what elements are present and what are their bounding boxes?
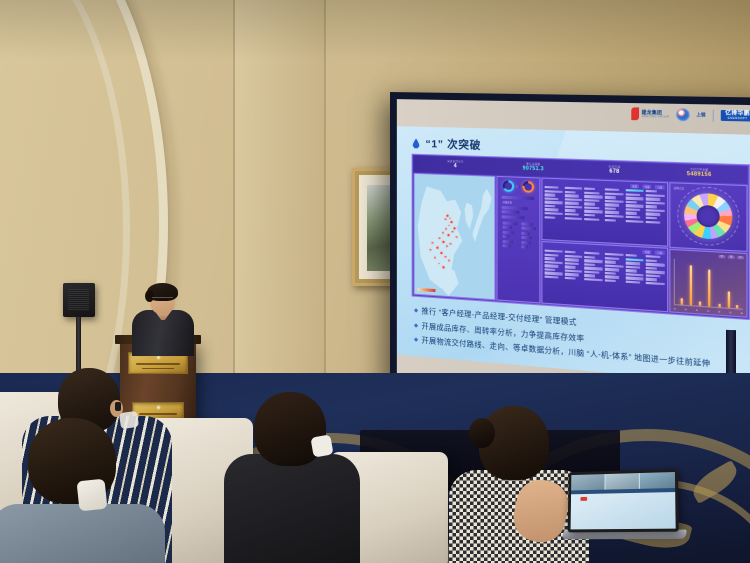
table-grid bbox=[545, 250, 665, 286]
table-cell bbox=[605, 257, 620, 260]
audience-hair-bun bbox=[469, 418, 495, 448]
table-cell bbox=[564, 251, 575, 254]
side-bar bbox=[521, 236, 531, 240]
kpi-value: 4 bbox=[418, 163, 494, 171]
dashboard-center-column: 全部 待发 已发 bbox=[541, 178, 668, 313]
table-cell bbox=[625, 208, 640, 211]
video-main-stage bbox=[571, 492, 676, 529]
side-bar bbox=[501, 215, 524, 219]
dashboard-right-column: 品种占比 日 周 月 bbox=[669, 182, 748, 318]
map-dot bbox=[456, 236, 458, 238]
table-cell bbox=[545, 205, 556, 208]
map-dot bbox=[446, 245, 448, 247]
face-mask bbox=[310, 434, 333, 457]
earbud-icon bbox=[115, 402, 121, 411]
side-bar bbox=[521, 222, 533, 226]
table-cell bbox=[584, 206, 598, 209]
table-cell bbox=[584, 259, 602, 263]
laptop-lid bbox=[568, 469, 679, 532]
jianlong-logo-en: JIANLONG GROUP bbox=[641, 115, 669, 119]
table-cell bbox=[625, 262, 640, 265]
table-cell bbox=[584, 278, 602, 282]
table-cell bbox=[564, 205, 582, 208]
recording-indicator-icon bbox=[580, 497, 587, 501]
esensoft-logo: 亿搀华鹏 ESENSOFT bbox=[721, 110, 750, 122]
table-cell bbox=[605, 215, 623, 218]
map-dot bbox=[443, 241, 445, 243]
table-cell bbox=[564, 190, 575, 193]
presenter-glasses-icon bbox=[152, 297, 173, 303]
shipment-table-bottom: 全部 已发 bbox=[541, 241, 668, 312]
table-cell bbox=[545, 186, 559, 189]
table-cell bbox=[564, 277, 575, 280]
kpi-item: 当日发货车次 4 bbox=[418, 160, 494, 171]
map-dot bbox=[432, 242, 434, 244]
table-cell bbox=[584, 252, 598, 255]
table-cell bbox=[545, 201, 563, 204]
axis-tick: 25 bbox=[729, 312, 731, 314]
table-cell bbox=[625, 212, 636, 215]
kpi-item: 在途车辆 678 bbox=[573, 165, 656, 176]
spark-bar bbox=[709, 270, 711, 307]
plaque-line bbox=[136, 363, 180, 365]
shipment-table-top: 全部 待发 已发 bbox=[541, 178, 668, 247]
audience-shoulders bbox=[0, 504, 165, 563]
table-cell bbox=[584, 214, 595, 217]
side-bar bbox=[521, 240, 530, 244]
order-status-side-panel: 运输状态 bbox=[496, 176, 540, 304]
table-cell bbox=[625, 189, 643, 192]
table-cell bbox=[564, 202, 578, 205]
video-tile bbox=[605, 473, 639, 490]
table-cell bbox=[646, 267, 657, 270]
axis-tick: 05 bbox=[685, 309, 687, 311]
table-cell bbox=[545, 250, 563, 253]
spark-plot-area bbox=[674, 259, 743, 310]
table-cell bbox=[625, 204, 643, 207]
spark-bar bbox=[736, 305, 738, 308]
map-dot bbox=[437, 247, 439, 249]
spark-bar bbox=[699, 301, 701, 306]
water-drop-icon bbox=[413, 138, 420, 148]
table-cell bbox=[605, 276, 620, 279]
logo-row: 建龙集团 JIANLONG GROUP 上钢 亿搀华鹏 ESENSOFT bbox=[631, 107, 750, 122]
side-bar bbox=[516, 185, 520, 188]
ceiling-shadow bbox=[0, 0, 750, 60]
audience-center-dark-shirt bbox=[228, 392, 354, 563]
table-cell bbox=[545, 264, 559, 267]
table-cell bbox=[564, 194, 578, 197]
map-dot bbox=[447, 215, 449, 217]
audience-front-row bbox=[0, 418, 155, 563]
spark-bar bbox=[728, 291, 730, 308]
table-cell bbox=[564, 273, 578, 276]
table-cell bbox=[605, 211, 620, 214]
table-cell bbox=[564, 217, 582, 220]
table-cell bbox=[545, 208, 559, 211]
spark-tab[interactable]: 日 bbox=[718, 255, 725, 259]
table-cell bbox=[584, 188, 595, 191]
jianlong-group-logo: 建龙集团 JIANLONG GROUP bbox=[631, 107, 669, 121]
table-cell bbox=[545, 197, 559, 200]
table-cell bbox=[584, 218, 598, 221]
map-dot bbox=[440, 252, 442, 254]
dashboard-main: 运输状态 bbox=[414, 173, 748, 318]
table-cell bbox=[646, 263, 665, 267]
table-cell bbox=[564, 187, 582, 190]
table-cell bbox=[605, 219, 616, 222]
table-cell bbox=[584, 271, 598, 274]
table-cell bbox=[605, 279, 616, 282]
conference-room-photo: 建龙集团 JIANLONG GROUP 上钢 亿搀华鹏 ESENSOFT bbox=[0, 0, 750, 563]
table-cell bbox=[605, 253, 623, 257]
table-cell bbox=[584, 274, 595, 277]
side-bar bbox=[503, 230, 515, 234]
table-cell bbox=[646, 201, 665, 204]
table-cell bbox=[646, 274, 661, 277]
table-cell bbox=[605, 268, 620, 271]
spark-bar bbox=[680, 298, 682, 305]
table-tab[interactable]: 全部 bbox=[642, 250, 651, 255]
table-cell bbox=[625, 197, 643, 200]
table-cell bbox=[605, 272, 616, 275]
table-cell bbox=[564, 266, 575, 269]
table-cell bbox=[584, 210, 602, 213]
table-tab[interactable]: 全部 bbox=[630, 184, 639, 189]
table-cell bbox=[584, 263, 595, 266]
table-cell bbox=[646, 213, 661, 216]
table-cell bbox=[646, 259, 657, 262]
side-split bbox=[499, 219, 537, 250]
trend-spark-chart: 日 周 月 bbox=[669, 249, 748, 318]
wall-speaker bbox=[63, 283, 95, 317]
gauge-blue bbox=[503, 180, 514, 192]
axis-tick: 30 bbox=[741, 313, 743, 315]
table-cell bbox=[605, 200, 623, 203]
esensoft-logo-en: ESENSOFT bbox=[725, 117, 750, 121]
axis-tick: 10 bbox=[696, 310, 698, 312]
jianlong-mark-icon bbox=[631, 107, 639, 120]
map-dot bbox=[443, 267, 445, 269]
laptop-screen bbox=[571, 472, 676, 529]
video-tile bbox=[640, 472, 675, 489]
table-tab[interactable]: 待发 bbox=[642, 184, 651, 189]
table-cell bbox=[564, 258, 578, 261]
table-cell bbox=[605, 260, 616, 263]
table-cell bbox=[584, 199, 598, 202]
logo-divider bbox=[712, 109, 713, 121]
table-cell bbox=[625, 216, 640, 219]
table-cell bbox=[646, 190, 657, 193]
dashboard-screenshot: 当日发货车次 4 累计运输量 90751.3 在途车辆 678 bbox=[412, 154, 750, 320]
table-cell bbox=[646, 255, 661, 258]
table-cell bbox=[625, 201, 636, 204]
side-bar bbox=[503, 235, 510, 238]
map-dot bbox=[451, 221, 453, 223]
dashboard-left-column: 运输状态 bbox=[414, 173, 541, 304]
table-cell bbox=[584, 256, 595, 259]
partner-badge-icon bbox=[676, 108, 690, 121]
partner-badge-label: 上钢 bbox=[696, 112, 705, 119]
spark-tab[interactable]: 周 bbox=[728, 255, 735, 259]
side-bar bbox=[503, 239, 513, 243]
audience-shoulders bbox=[224, 454, 360, 563]
table-cell bbox=[605, 188, 620, 191]
gauge-orange bbox=[522, 181, 534, 193]
face-mask bbox=[77, 479, 108, 512]
slide-body: “1” 次突破 当日发货车次 4 累计运输量 90751.3 bbox=[397, 126, 750, 386]
table-cell bbox=[564, 262, 578, 265]
donut-chart-title: 品种占比 bbox=[674, 186, 684, 191]
table-cell bbox=[625, 269, 636, 272]
side-bar bbox=[501, 195, 533, 199]
slide-title: “1” 次突破 bbox=[413, 136, 481, 153]
table-grid bbox=[545, 186, 665, 224]
gauge-row bbox=[499, 179, 537, 195]
china-distribution-map bbox=[414, 173, 496, 300]
table-tab[interactable]: 已发 bbox=[655, 250, 664, 255]
screen-surface: 建龙集团 JIANLONG GROUP 上钢 亿搀华鹏 ESENSOFT bbox=[397, 99, 750, 413]
table-cell bbox=[625, 193, 640, 196]
axis-tick: 20 bbox=[718, 311, 720, 313]
bullet-marker-icon bbox=[414, 337, 418, 341]
table-cell bbox=[646, 205, 657, 208]
table-cell bbox=[545, 276, 559, 279]
table-cell bbox=[646, 282, 665, 286]
spark-axis-labels: 01 05 10 15 20 25 30 bbox=[674, 308, 743, 315]
spark-tab[interactable]: 月 bbox=[737, 256, 744, 260]
kpi-item: 今日订单金额 5489156 bbox=[656, 168, 743, 179]
table-cell bbox=[605, 192, 623, 195]
side-bar bbox=[521, 227, 535, 231]
table-cell bbox=[545, 193, 556, 196]
presentation-slide: 建龙集团 JIANLONG GROUP 上钢 亿搀华鹏 ESENSOFT bbox=[397, 99, 750, 413]
table-cell bbox=[625, 281, 640, 284]
table-cell bbox=[605, 207, 616, 210]
audience-woman-with-laptop bbox=[455, 406, 583, 563]
table-cell bbox=[564, 213, 578, 216]
side-bar bbox=[501, 205, 527, 209]
table-cell bbox=[564, 198, 582, 201]
table-cell bbox=[545, 212, 563, 215]
side-bar bbox=[521, 245, 528, 248]
table-cell bbox=[584, 203, 595, 206]
side-bar bbox=[503, 221, 517, 225]
table-cell bbox=[545, 268, 556, 271]
axis-tick: 01 bbox=[674, 308, 676, 310]
table-cell bbox=[646, 278, 657, 281]
bullet-marker-icon bbox=[414, 323, 418, 327]
table-cell bbox=[545, 257, 556, 260]
side-bar bbox=[521, 231, 529, 235]
spark-bar bbox=[718, 303, 720, 307]
map-dot bbox=[448, 234, 450, 236]
table-cell bbox=[646, 209, 665, 212]
side-bar bbox=[503, 244, 511, 248]
kpi-item: 累计运输量 90751.3 bbox=[494, 162, 574, 173]
axis-tick: 15 bbox=[707, 311, 709, 313]
bullet-marker-icon bbox=[414, 308, 418, 312]
table-cell bbox=[646, 198, 661, 201]
table-cell bbox=[545, 216, 556, 219]
table-cell bbox=[545, 253, 559, 256]
side-bar bbox=[503, 226, 512, 230]
table-cell bbox=[545, 190, 563, 193]
table-cell bbox=[646, 194, 665, 197]
spark-bar bbox=[690, 265, 692, 305]
table-cell bbox=[564, 209, 575, 212]
table-cell bbox=[605, 203, 620, 206]
video-tile bbox=[571, 474, 604, 490]
attendee-laptop[interactable] bbox=[567, 469, 685, 545]
video-gallery-row bbox=[571, 472, 675, 490]
table-cell bbox=[646, 221, 661, 224]
table-cell bbox=[584, 191, 598, 194]
table-cell bbox=[584, 195, 602, 198]
side-panel-label: 运输状态 bbox=[499, 200, 537, 206]
table-cell bbox=[625, 254, 636, 257]
map-dot bbox=[454, 227, 456, 229]
table-cell bbox=[625, 220, 643, 223]
table-cell bbox=[605, 196, 616, 199]
table-tab[interactable]: 已发 bbox=[655, 185, 664, 190]
slide-title-text: “1” 次突破 bbox=[425, 136, 481, 153]
category-donut-chart: 品种占比 bbox=[669, 182, 748, 252]
table-cell bbox=[646, 217, 657, 220]
table-cell bbox=[625, 265, 640, 268]
presenter bbox=[132, 286, 194, 352]
map-dot bbox=[442, 232, 444, 234]
side-bar bbox=[501, 210, 519, 214]
